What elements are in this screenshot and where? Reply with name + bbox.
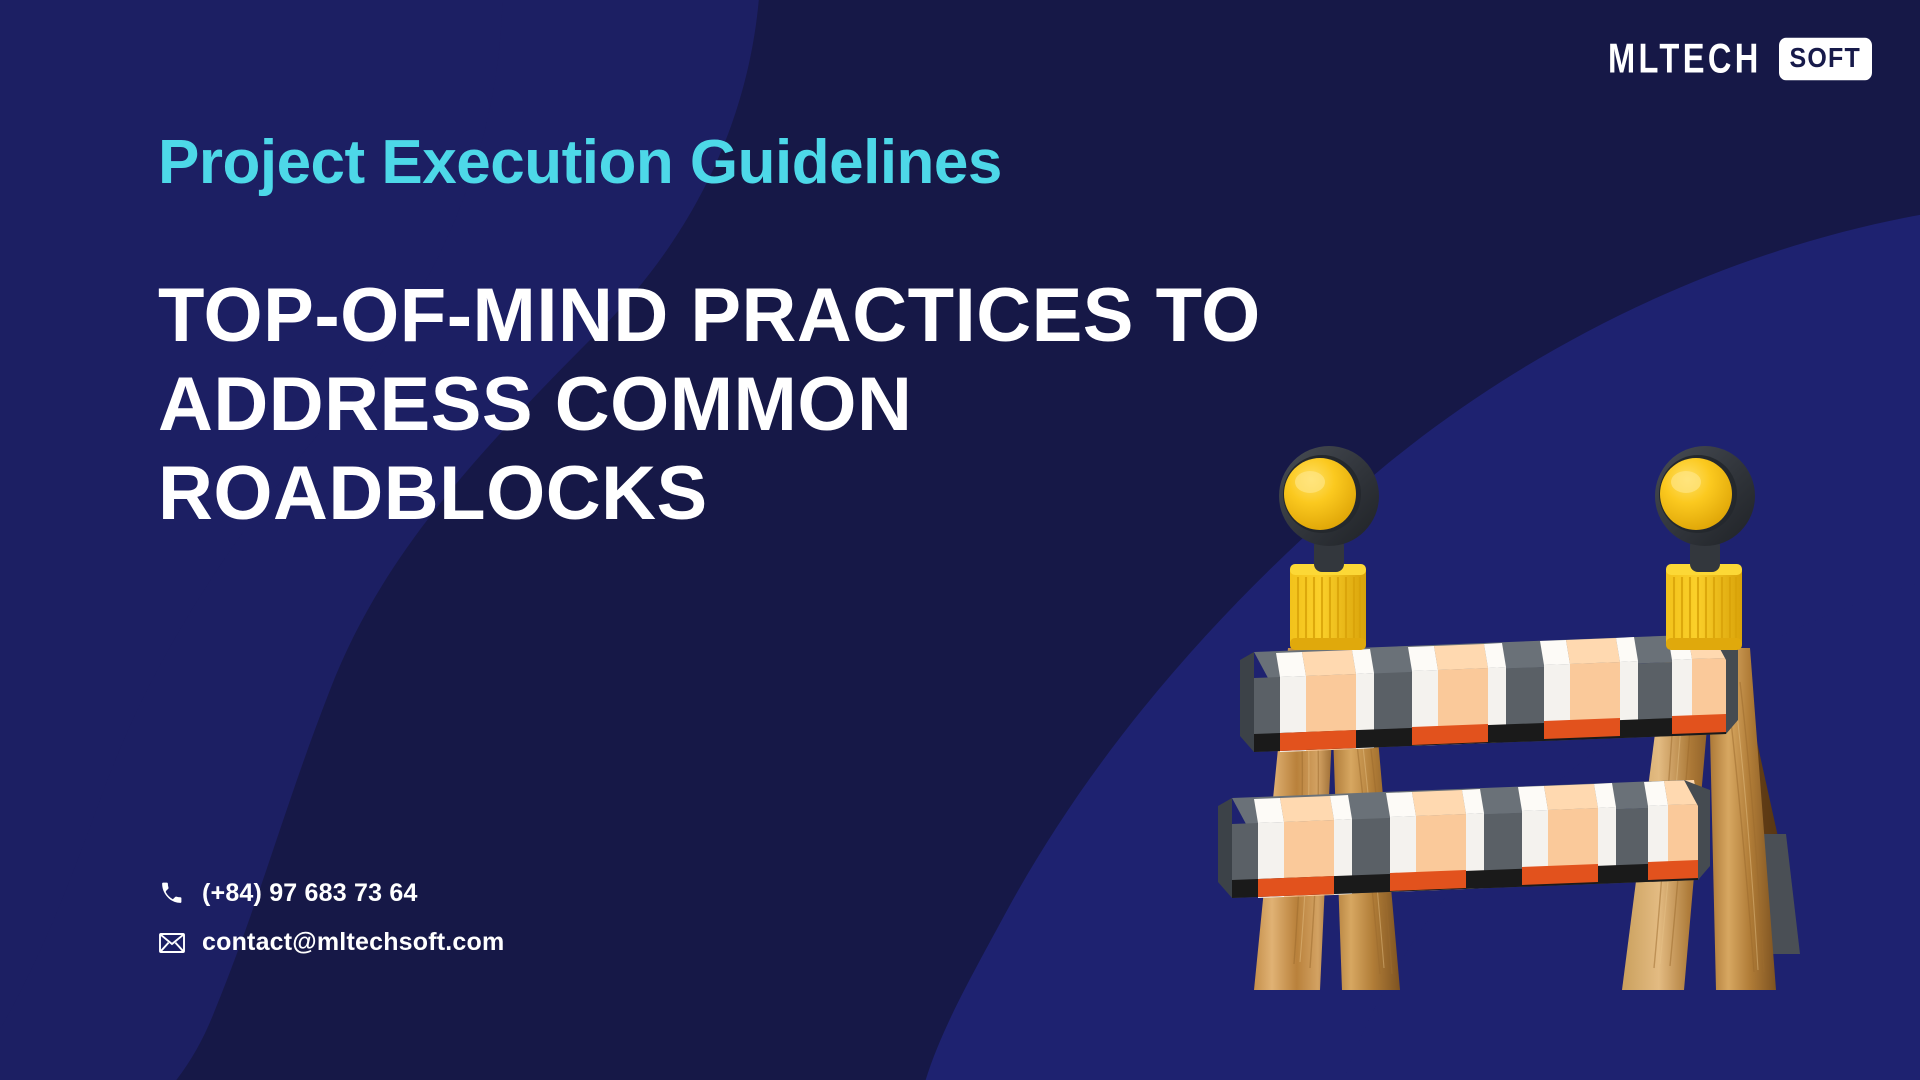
contact-row-phone[interactable]: (+84) 97 683 73 64 [158,880,504,907]
marketing-banner: MLTECH SOFT Project Execution Guidelines… [0,0,1920,1080]
contact-phone-text: (+84) 97 683 73 64 [202,881,418,906]
envelope-icon [158,929,185,956]
headline-line-2: ADDRESS COMMON [158,361,1318,450]
hero-headline: TOP-OF-MIND PRACTICES TO ADDRESS COMMON … [158,272,1318,539]
warning-lamp-right [1655,446,1755,650]
contact-block: (+84) 97 683 73 64 contact@mltechsoft.co… [158,880,504,956]
phone-icon [158,880,185,907]
brand-logo[interactable]: MLTECH SOFT [1608,40,1872,78]
hero-content: Project Execution Guidelines TOP-OF-MIND… [158,0,1338,1080]
contact-email-text: contact@mltechsoft.com [202,930,504,955]
logo-badge-soft: SOFT [1779,38,1872,81]
headline-line-3: ROADBLOCKS [158,450,1318,539]
headline-line-1: TOP-OF-MIND PRACTICES TO [158,272,1318,361]
hero-eyebrow: Project Execution Guidelines [158,132,1002,194]
logo-wordmark: MLTECH [1608,38,1762,79]
contact-row-email[interactable]: contact@mltechsoft.com [158,929,504,956]
